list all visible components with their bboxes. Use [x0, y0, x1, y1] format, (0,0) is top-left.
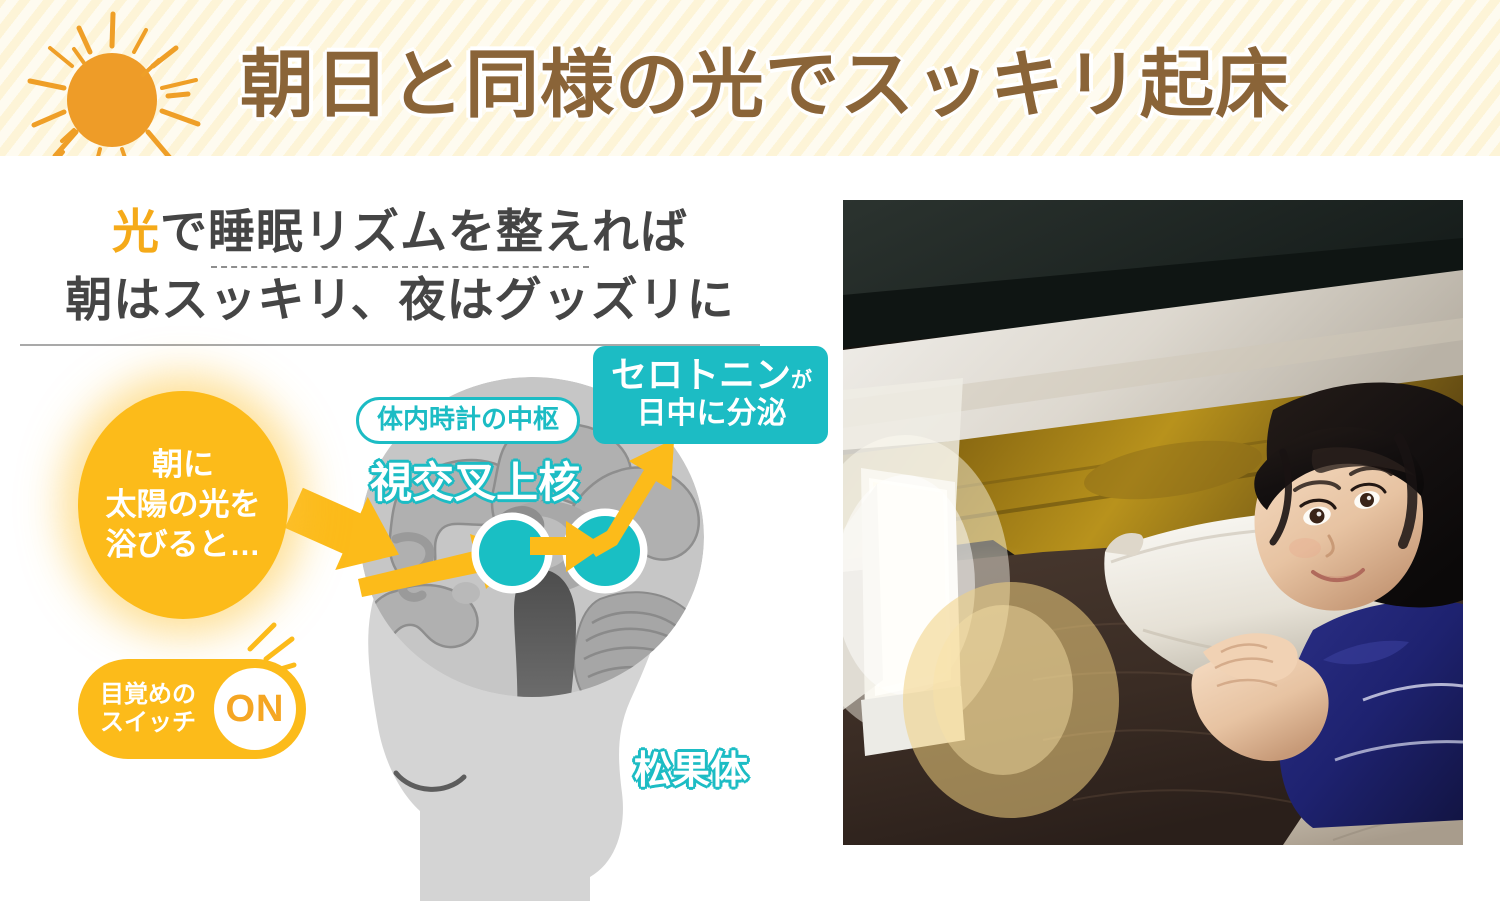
- subtitle-block: 光で睡眠リズムを整えれば 朝はスッキリ、夜はグッズリに: [0, 206, 800, 326]
- serotonin-main-line: セロトニンが: [611, 357, 812, 394]
- serotonin-word: セロトニン: [611, 354, 791, 395]
- serotonin-sub-line: 日中に分泌: [611, 396, 812, 431]
- page-title: 朝日と同様の光でスッキリ起床: [240, 0, 1290, 156]
- bedroom-photo: [843, 200, 1463, 845]
- subtitle-line-1-rest: で睡眠リズムを整えれば: [160, 205, 688, 258]
- sun-icon: [22, 8, 202, 156]
- left-content-column: 光で睡眠リズムを整えれば 朝はスッキリ、夜はグッズリに: [0, 156, 840, 900]
- header-banner: 朝日と同様の光でスッキリ起床: [0, 0, 1500, 156]
- subtitle-line-2: 朝はスッキリ、夜はグッズリに: [0, 274, 800, 327]
- subtitle-highlight: 光: [112, 205, 160, 258]
- subtitle-dashed-divider: [211, 266, 589, 268]
- serotonin-particle: が: [791, 369, 812, 392]
- bedroom-photo-illustration: [843, 200, 1463, 845]
- subtitle-line-1: 光で睡眠リズムを整えれば: [0, 206, 800, 259]
- brain-diagram: 朝に 太陽の光を 浴びると… 目覚めの スイッチ ON 体内時計の中枢 視交叉上…: [0, 361, 840, 901]
- serotonin-callout-box: セロトニンが 日中に分泌: [593, 346, 828, 444]
